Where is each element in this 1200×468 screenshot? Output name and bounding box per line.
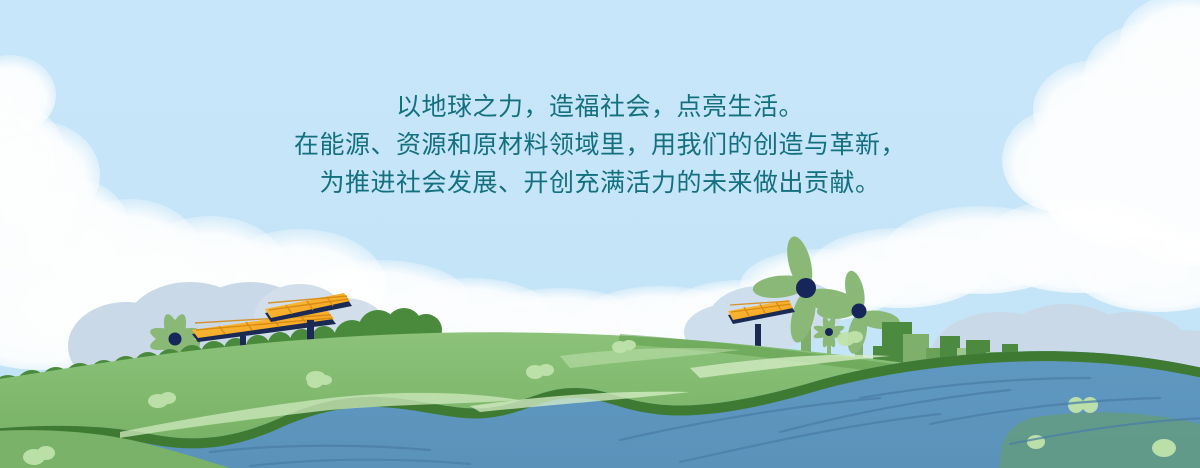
eco-landscape-banner: 以地球之力，造福社会，点亮生活。 在能源、资源和原材料领域里，用我们的创造与革新… — [0, 0, 1200, 468]
landscape-illustration — [0, 0, 1200, 468]
